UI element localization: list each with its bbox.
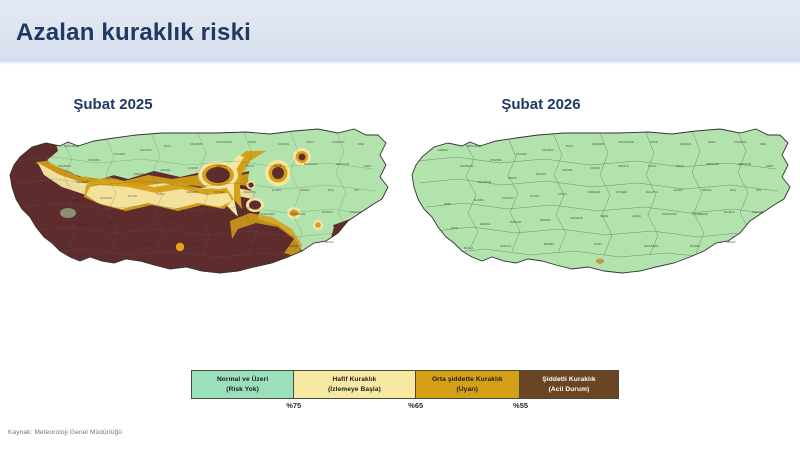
- svg-text:KASTAMONU: KASTAMONU: [618, 140, 634, 144]
- turkey-drought-map-2026: EDİRNEKIRKLARELİ TEKİRDAĞİSTANBUL KOCAEL…: [404, 121, 796, 306]
- map-title-2026: Şubat 2026: [404, 96, 796, 113]
- svg-text:MALATYA: MALATYA: [646, 190, 658, 194]
- drought-legend-ticks: %75%65%55: [191, 401, 619, 415]
- svg-text:ORDU: ORDU: [306, 140, 314, 144]
- svg-text:KARABÜK: KARABÜK: [190, 142, 203, 146]
- header-band: Azalan kuraklık riski: [0, 0, 800, 63]
- page-title: Azalan kuraklık riski: [16, 19, 251, 47]
- turkey-drought-map-2025: EDİRNEKIRKLARELİ TEKİRDAĞİSTANBUL KOCAEL…: [2, 121, 394, 306]
- svg-text:BURSA: BURSA: [106, 176, 115, 180]
- legend-label-primary: Orta şiddette Kuraklık: [432, 375, 503, 385]
- svg-text:KARS: KARS: [766, 164, 773, 168]
- map-title-2025: Şubat 2025: [2, 96, 394, 113]
- svg-text:AMASYA: AMASYA: [618, 164, 629, 168]
- svg-text:TRABZON: TRABZON: [332, 140, 345, 144]
- legend-label-secondary: (Acil Durum): [549, 385, 590, 395]
- svg-text:ŞANLIURFA: ŞANLIURFA: [644, 244, 659, 248]
- svg-text:MUŞ: MUŞ: [328, 188, 334, 192]
- svg-text:ISPARTA: ISPARTA: [138, 218, 149, 222]
- svg-text:AYDIN: AYDIN: [48, 226, 56, 230]
- legend-cell-2: Orta şiddette Kuraklık(Uyarı): [416, 371, 520, 398]
- svg-text:KARS: KARS: [364, 164, 371, 168]
- svg-text:ÇORUM: ÇORUM: [188, 166, 198, 170]
- svg-text:ŞIRNAK: ŞIRNAK: [726, 240, 736, 244]
- map-canvas-2026: EDİRNEKIRKLARELİ TEKİRDAĞİSTANBUL KOCAEL…: [404, 121, 796, 306]
- legend-label-primary: Hafif Kuraklık: [332, 375, 376, 385]
- svg-text:BURDUR: BURDUR: [108, 220, 119, 224]
- svg-text:TOKAT: TOKAT: [246, 164, 255, 168]
- svg-text:HATAY: HATAY: [192, 242, 200, 246]
- svg-text:KARABÜK: KARABÜK: [592, 142, 605, 146]
- legend-label-secondary: (Risk Yok): [226, 385, 259, 395]
- legend-label-primary: Şiddetli Kuraklık: [542, 375, 595, 385]
- svg-text:AMASYA: AMASYA: [216, 164, 227, 168]
- legend-tick-0: %75: [286, 401, 301, 410]
- svg-text:KARAMAN: KARAMAN: [570, 216, 583, 220]
- svg-text:ADANA: ADANA: [230, 214, 239, 218]
- map-canvas-2025: EDİRNEKIRKLARELİ TEKİRDAĞİSTANBUL KOCAEL…: [2, 121, 394, 306]
- svg-text:SAMSUN: SAMSUN: [680, 142, 691, 146]
- svg-text:BOLU: BOLU: [164, 144, 171, 148]
- svg-text:ŞIRNAK: ŞIRNAK: [324, 240, 334, 244]
- svg-text:BATMAN: BATMAN: [322, 210, 333, 214]
- svg-text:BURSA: BURSA: [508, 176, 517, 180]
- svg-text:KÜTAHYA: KÜTAHYA: [100, 196, 112, 200]
- svg-text:VAN: VAN: [354, 188, 359, 192]
- legend-label-secondary: (İzlemeye Başla): [328, 385, 381, 395]
- source-note: Kaynak: Meteoroloji Genel Müdürlüğü: [8, 429, 122, 436]
- svg-text:ANTALYA: ANTALYA: [98, 244, 110, 248]
- svg-text:ANTALYA: ANTALYA: [500, 244, 512, 248]
- svg-text:AFYON: AFYON: [128, 194, 137, 198]
- svg-text:ERZURUM: ERZURUM: [336, 162, 349, 166]
- svg-text:KASTAMONU: KASTAMONU: [216, 140, 232, 144]
- svg-text:KONYA: KONYA: [156, 192, 165, 196]
- svg-text:MUŞ: MUŞ: [730, 188, 736, 192]
- legend-tick-2: %55: [513, 401, 528, 410]
- svg-text:ERZURUM: ERZURUM: [738, 162, 751, 166]
- svg-text:AYDIN: AYDIN: [450, 226, 458, 230]
- svg-text:ADANA: ADANA: [632, 214, 641, 218]
- svg-text:TRABZON: TRABZON: [734, 140, 747, 144]
- svg-text:BURDUR: BURDUR: [510, 220, 521, 224]
- legend-cell-0: Normal ve Üzeri(Risk Yok): [192, 371, 294, 398]
- legend-tick-1: %65: [408, 401, 423, 410]
- legend-label-secondary: (Uyarı): [457, 385, 479, 395]
- svg-text:ORDU: ORDU: [708, 140, 716, 144]
- svg-text:ANKARA: ANKARA: [160, 168, 171, 172]
- svg-text:TOKAT: TOKAT: [648, 164, 657, 168]
- svg-text:ANKARA: ANKARA: [562, 168, 573, 172]
- svg-text:HATAY: HATAY: [594, 242, 602, 246]
- legend-cell-3: Şiddetli Kuraklık(Acil Durum): [520, 371, 618, 398]
- svg-text:KONYA: KONYA: [558, 192, 567, 196]
- svg-text:ÇORUM: ÇORUM: [590, 166, 600, 170]
- svg-text:SAMSUN: SAMSUN: [278, 142, 289, 146]
- svg-text:ISPARTA: ISPARTA: [540, 218, 551, 222]
- svg-text:VAN: VAN: [756, 188, 761, 192]
- svg-text:BATMAN: BATMAN: [724, 210, 735, 214]
- svg-text:ŞANLIURFA: ŞANLIURFA: [242, 244, 257, 248]
- map-panel-subat-2025: Şubat 2025: [2, 96, 394, 306]
- svg-text:MALATYA: MALATYA: [244, 190, 256, 194]
- svg-text:AFYON: AFYON: [530, 194, 539, 198]
- legend-cell-1: Hafif Kuraklık(İzlemeye Başla): [294, 371, 415, 398]
- drought-legend: Normal ve Üzeri(Risk Yok)Hafif Kuraklık(…: [191, 370, 619, 399]
- svg-text:SAKARYA: SAKARYA: [542, 148, 554, 152]
- svg-text:BOLU: BOLU: [566, 144, 573, 148]
- svg-text:KARAMAN: KARAMAN: [168, 216, 181, 220]
- svg-text:SAKARYA: SAKARYA: [140, 148, 152, 152]
- legend-label-primary: Normal ve Üzeri: [217, 375, 268, 385]
- svg-text:KÜTAHYA: KÜTAHYA: [502, 196, 514, 200]
- map-panel-subat-2026: Şubat 2026: [404, 96, 796, 306]
